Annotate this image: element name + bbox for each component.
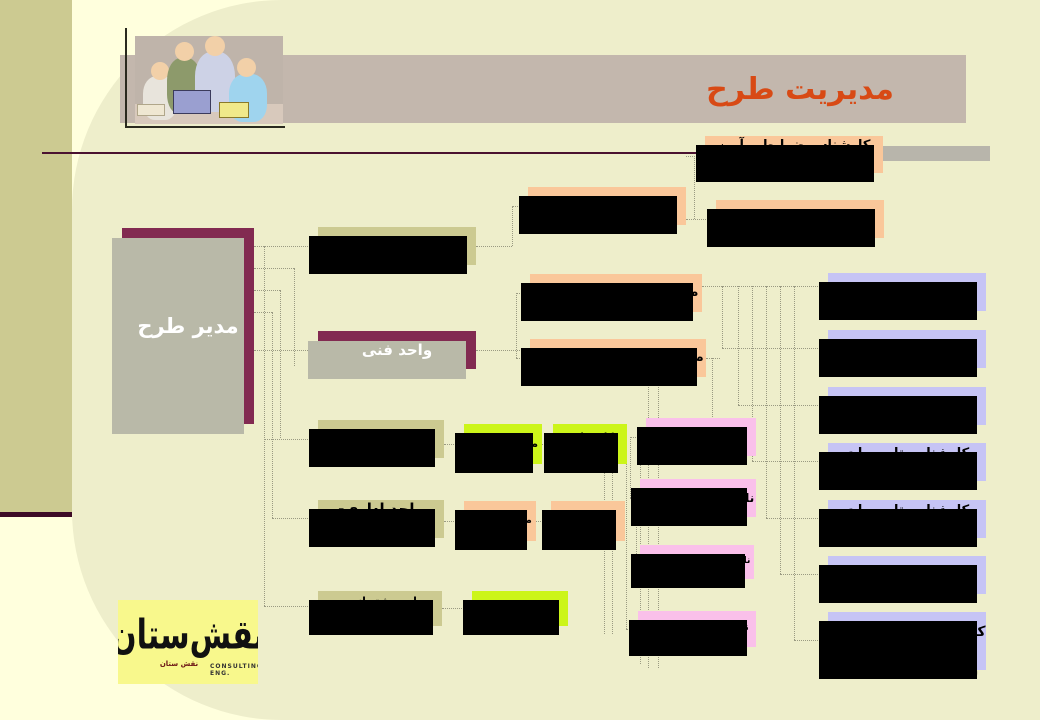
org-node-sup-struct[interactable]: ناظر سازه و سویل <box>640 479 756 517</box>
slide-canvas: مدیریت طرح <box>0 0 1040 720</box>
org-node-sup-elec[interactable]: ناظر تاسیسات الکتریکی <box>640 545 754 579</box>
org-node-exp-arch[interactable]: کارشناس معماری <box>828 273 986 311</box>
org-node-ctrl-proj[interactable]: مدیر کنترل و نظارت پروژه <box>530 339 706 377</box>
org-node-legal-unit[interactable]: واحد حقوقی <box>318 227 476 265</box>
org-node-exp-mech[interactable]: کارشناس تاسیسات مکانیکی <box>828 500 986 538</box>
org-node-exp-elec[interactable]: کارشناس تاسیسات الکتریکی <box>828 443 986 481</box>
left-accent-underline <box>0 512 72 517</box>
org-node-tech-unit[interactable]: واحد فنی <box>318 331 476 369</box>
org-node-exp-env[interactable]: کارشناس محیط زیستو فضای سبز <box>828 612 986 670</box>
org-node-legal-expert[interactable]: کارشناس حقوقی <box>716 200 884 238</box>
org-node-reg-expert[interactable]: کارشناس ضوابط و آیین نامه <box>705 136 883 173</box>
org-node-admin-unit[interactable]: واحد اداری- مالی <box>318 500 444 538</box>
org-node-exp-struct[interactable]: کارشناس سازه <box>828 330 986 368</box>
org-node-ctrl-plan[interactable]: مدیر کنترل و نظارت طرح <box>530 274 702 312</box>
org-node-exec-unit[interactable]: واحد اجرایی <box>318 420 444 458</box>
team-meeting-illustration <box>125 28 285 128</box>
org-node-supp-head[interactable]: مسؤول واحد <box>472 591 568 626</box>
logo-subtitle-fa: نقش ستان <box>144 660 214 668</box>
org-node-exp-quant[interactable]: کارشناس متره <box>828 556 986 594</box>
org-node-exp-civil[interactable]: کارشناس سویل <box>828 387 986 425</box>
org-node-exec-expert[interactable]: کارشناس اجرایی <box>553 424 627 464</box>
company-logo: نقش‌ستان نقش ستان CONSULTING ENG. <box>118 600 258 684</box>
org-node-supp-unit[interactable]: واحد پشتیبانی و خدمات <box>318 591 442 626</box>
org-node-sup-mech[interactable]: ناظر تاسیسات مکانیکی <box>638 611 756 647</box>
org-node-acct-expert[interactable]: کارشناس حسابداری <box>551 501 625 541</box>
org-node-admin-head[interactable]: مسؤول واحد <box>464 501 536 541</box>
gray-band-accent <box>880 146 990 161</box>
org-node-unit-head-1[interactable]: مسؤول واحد <box>528 187 686 225</box>
logo-subtitle-en: CONSULTING ENG. <box>210 663 258 677</box>
org-node-exec-head[interactable]: مسؤول واحد <box>464 424 542 464</box>
left-accent-bar <box>0 0 72 515</box>
org-node-root[interactable]: مدیر طرح <box>122 228 254 424</box>
org-node-sup-arch[interactable]: ناظر معماری <box>646 418 756 456</box>
